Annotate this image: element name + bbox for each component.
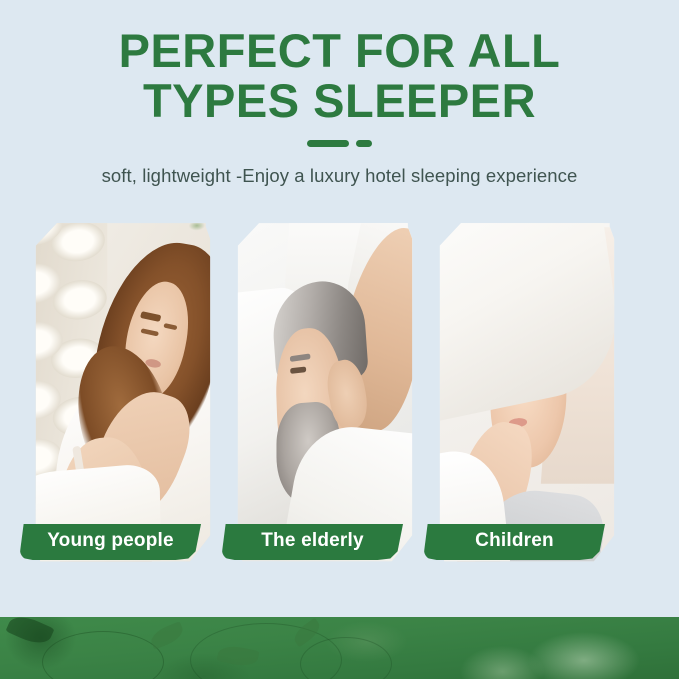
- photo-older-man-resting: [237, 218, 413, 563]
- panel-the-elderly: [237, 218, 413, 563]
- label-bar-young-people: Young people: [20, 524, 201, 560]
- foliage-band: [0, 617, 679, 679]
- photo-child-sleeping: [439, 218, 615, 563]
- subtitle-text: soft, lightweight -Enjoy a luxury hotel …: [0, 165, 679, 187]
- headline-block: PERFECT FOR ALL TYPES SLEEPER: [0, 26, 679, 147]
- label-text-young-people: Young people: [47, 530, 174, 552]
- panel-children-inner: [439, 218, 615, 563]
- panel-the-elderly-inner: [237, 218, 413, 563]
- label-bar-children: Children: [424, 524, 605, 560]
- title-divider: [0, 140, 679, 147]
- divider-dash-short: [356, 140, 372, 147]
- product-feature-banner: PERFECT FOR ALL TYPES SLEEPER soft, ligh…: [0, 0, 679, 679]
- foliage-leaf-d: [5, 617, 54, 649]
- foliage-leaf-a: [148, 621, 186, 649]
- label-text-the-elderly: The elderly: [261, 530, 364, 552]
- photo1-plant: [173, 218, 211, 242]
- foliage-vine-c: [300, 637, 392, 679]
- photo-young-woman-sleeping: [35, 218, 211, 563]
- panel-young-people-inner: [35, 218, 211, 563]
- label-bar-the-elderly: The elderly: [222, 524, 403, 560]
- headline-line-1: PERFECT FOR ALL: [0, 26, 679, 76]
- panel-row: [0, 218, 679, 563]
- foliage-vine-a: [42, 631, 164, 679]
- headline-line-2: TYPES SLEEPER: [0, 76, 679, 126]
- panel-young-people: [35, 218, 211, 563]
- panel-children: [439, 218, 615, 563]
- divider-dash-long: [307, 140, 349, 147]
- label-text-children: Children: [475, 530, 554, 552]
